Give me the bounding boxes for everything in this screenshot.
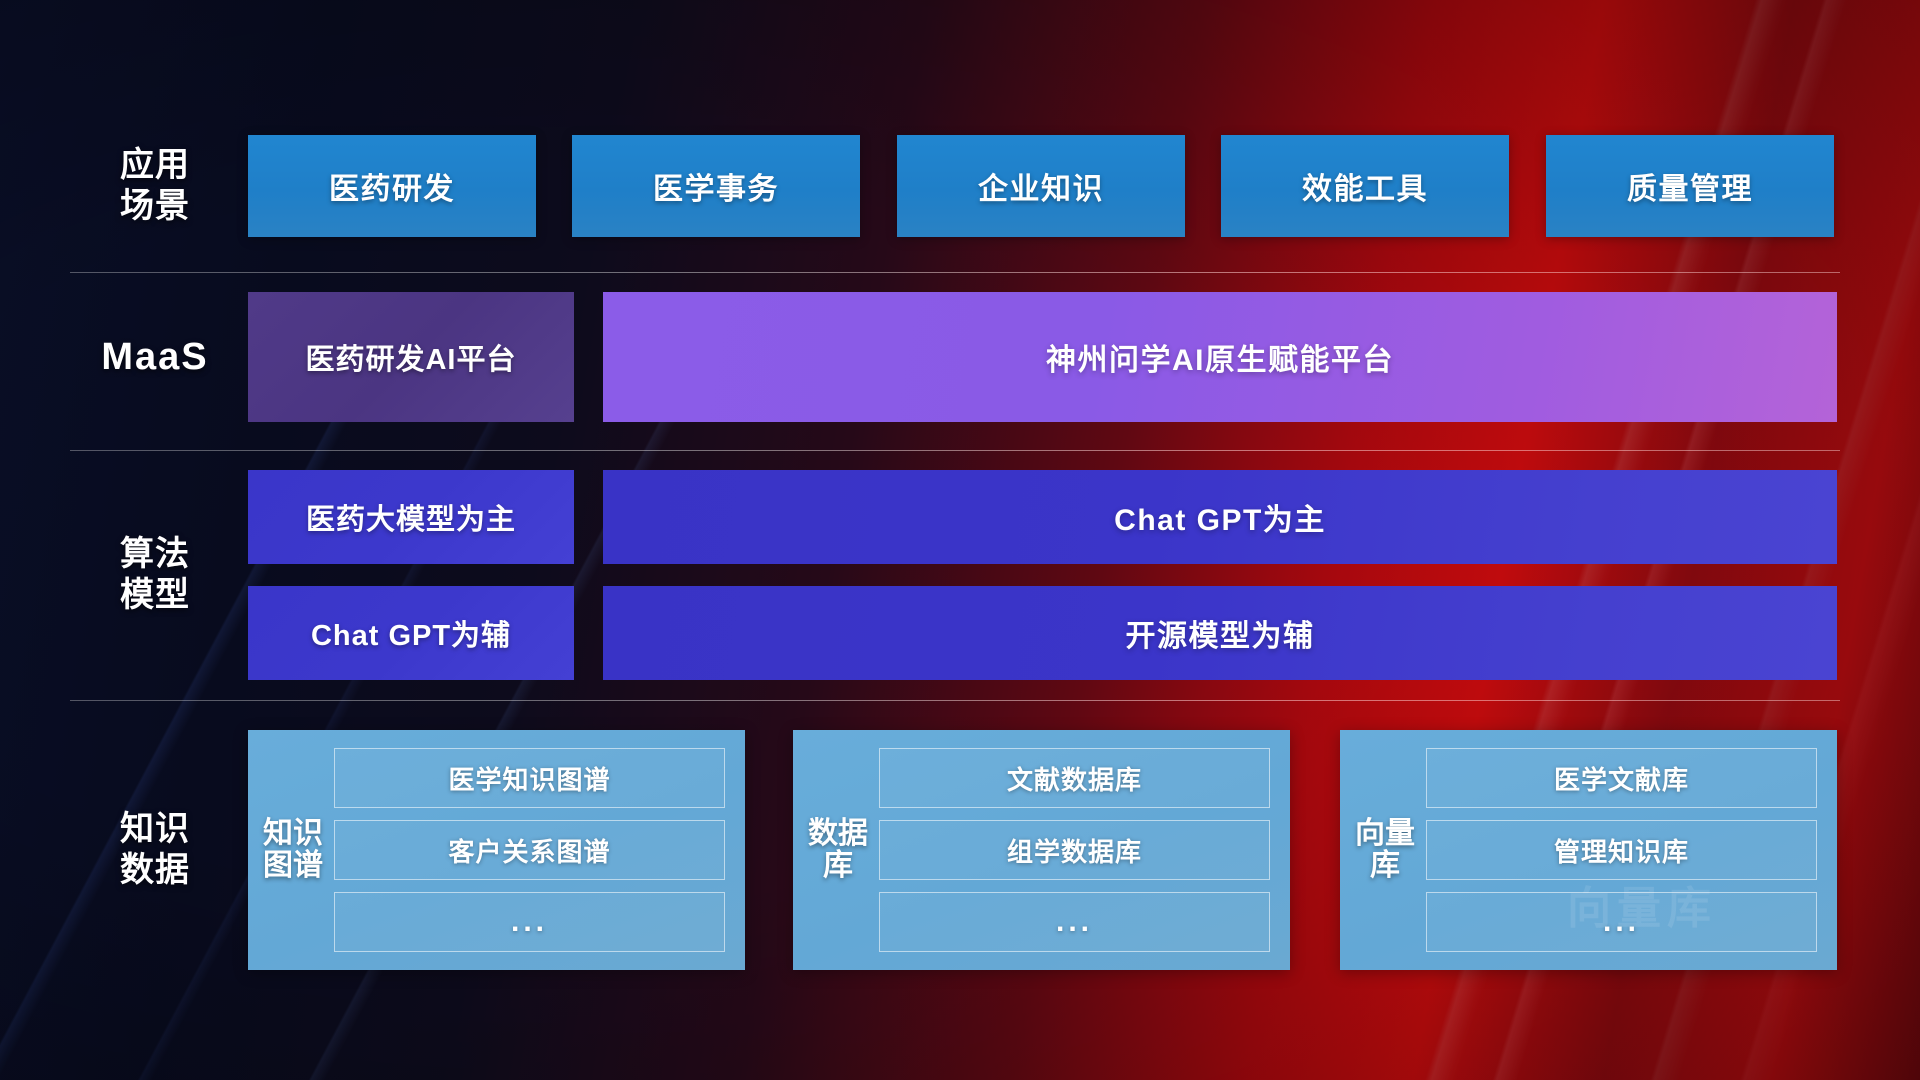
divider-algorithm-knowledge bbox=[70, 700, 1840, 701]
database-item-list: 文献数据库 组学数据库 ... bbox=[871, 742, 1274, 958]
maas-box-shenzhou-wenxue-platform[interactable]: 神州问学AI原生赋能平台 bbox=[603, 292, 1837, 422]
knowledge-item-medical-knowledge-graph[interactable]: 医学知识图谱 bbox=[334, 748, 725, 808]
database-item-omics-database[interactable]: 组学数据库 bbox=[879, 820, 1270, 880]
row-label-maas: MaaS bbox=[70, 292, 240, 422]
app-box-quality-management[interactable]: 质量管理 bbox=[1546, 135, 1834, 237]
knowledge-item-more-ellipsis[interactable]: ... bbox=[334, 892, 725, 952]
knowledge-item-list: 医学知识图谱 客户关系图谱 ... bbox=[326, 742, 729, 958]
maas-box-medicine-ai-platform[interactable]: 医药研发AI平台 bbox=[248, 292, 574, 422]
algo-box-medicine-large-model-primary[interactable]: 医药大模型为主 bbox=[248, 470, 574, 564]
knowledge-panel-vector-database[interactable]: 向量库 医学文献库 管理知识库 ... 向量库 bbox=[1340, 730, 1837, 970]
app-box-efficiency-tools[interactable]: 效能工具 bbox=[1221, 135, 1509, 237]
database-item-more-ellipsis[interactable]: ... bbox=[879, 892, 1270, 952]
app-box-medicine-rd[interactable]: 医药研发 bbox=[248, 135, 536, 237]
row-label-algorithm: 算法 模型 bbox=[70, 470, 240, 680]
app-box-enterprise-knowledge[interactable]: 企业知识 bbox=[897, 135, 1185, 237]
row-label-knowledge: 知识 数据 bbox=[70, 730, 240, 970]
vector-item-medical-literature-library[interactable]: 医学文献库 bbox=[1426, 748, 1817, 808]
vector-item-list: 医学文献库 管理知识库 ... bbox=[1418, 742, 1821, 958]
app-box-medical-affairs[interactable]: 医学事务 bbox=[572, 135, 860, 237]
algo-box-chatgpt-secondary[interactable]: Chat GPT为辅 bbox=[248, 586, 574, 680]
divider-maas-algorithm bbox=[70, 450, 1840, 451]
knowledge-panel-label-database: 数据库 bbox=[805, 818, 871, 883]
knowledge-panel-database[interactable]: 数据库 文献数据库 组学数据库 ... bbox=[793, 730, 1290, 970]
vector-item-management-knowledge-library[interactable]: 管理知识库 bbox=[1426, 820, 1817, 880]
knowledge-panel-label-vector-database: 向量库 bbox=[1352, 818, 1418, 883]
knowledge-item-customer-relation-graph[interactable]: 客户关系图谱 bbox=[334, 820, 725, 880]
database-item-literature-database[interactable]: 文献数据库 bbox=[879, 748, 1270, 808]
algo-box-opensource-secondary[interactable]: 开源模型为辅 bbox=[603, 586, 1837, 680]
knowledge-panel-knowledge-graph[interactable]: 知识图谱 医学知识图谱 客户关系图谱 ... bbox=[248, 730, 745, 970]
knowledge-panel-label-knowledge-graph: 知识图谱 bbox=[260, 818, 326, 883]
divider-application-maas bbox=[70, 272, 1840, 273]
algo-box-chatgpt-primary[interactable]: Chat GPT为主 bbox=[603, 470, 1837, 564]
vector-item-more-ellipsis[interactable]: ... bbox=[1426, 892, 1817, 952]
architecture-diagram: 应用 场景 医药研发 医学事务 企业知识 效能工具 质量管理 MaaS 医药研发… bbox=[0, 0, 1920, 1080]
row-label-application: 应用 场景 bbox=[70, 135, 240, 237]
